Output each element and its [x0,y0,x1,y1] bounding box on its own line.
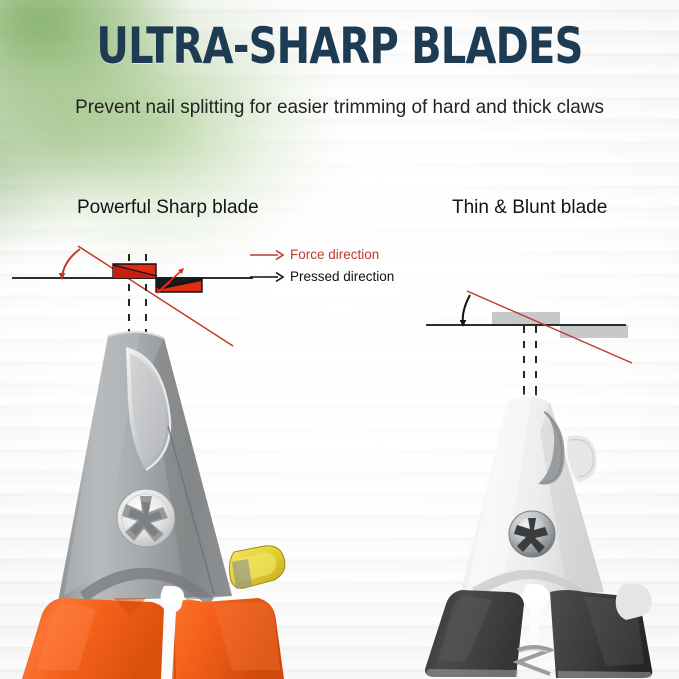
clipper-white-head [460,395,604,600]
clipper-steel-head [58,332,232,607]
legend-label-pressed: Pressed direction [290,270,394,284]
angle-arc-arrowhead [460,320,467,327]
upper-slab [492,312,560,325]
side-tab [616,583,652,620]
angle-arc [463,295,470,324]
upper-wedge [113,264,157,278]
legend-label-force: Force direction [290,248,379,262]
infographic-canvas: ULTRA-SHARP BLADES Prevent nail splittin… [0,0,679,679]
phillips-screw [117,489,175,547]
angle-arc-arrowhead [59,273,66,280]
blunt-blade-angle-diagram [420,286,675,396]
angle-arc [62,249,80,277]
orange-nail-clipper [18,330,338,679]
lower-wedge [156,278,202,292]
page-title: ULTRA-SHARP BLADES [68,21,611,71]
legend-item-force: Force direction [249,244,394,266]
orange-handles [22,598,284,679]
legend: Force direction Pressed direction [249,244,394,288]
spring [518,647,550,674]
phillips-screw [509,511,555,557]
arrow-right-icon [249,249,285,261]
right-panel-heading: Thin & Blunt blade [452,197,607,219]
yellow-lock-button [230,546,285,589]
legend-item-pressed: Pressed direction [249,266,394,288]
white-nail-clipper [408,388,676,679]
page-subtitle: Prevent nail splitting for easier trimmi… [10,96,669,119]
left-panel-heading: Powerful Sharp blade [77,197,259,219]
arrow-right-icon [249,271,285,283]
white-pivot-pin [523,584,549,648]
